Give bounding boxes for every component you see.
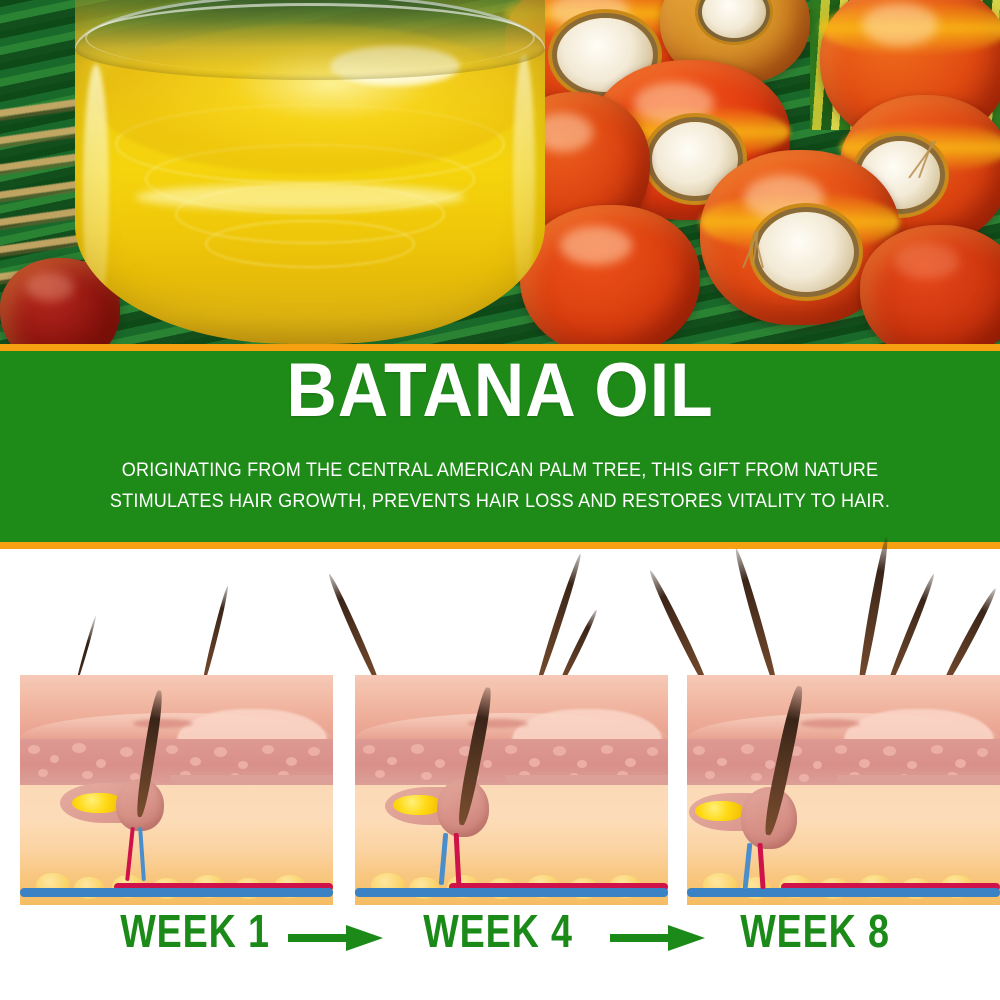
accent-stripe-bottom <box>0 542 1000 549</box>
epidermis-layer <box>20 675 333 743</box>
description-line-2: STIMULATES HAIR GROWTH, PREVENTS HAIR LO… <box>73 486 928 517</box>
product-infographic: BATANA OIL ORIGINATING FROM THE CENTRAL … <box>0 0 1000 1000</box>
diagram-week-1 <box>20 675 333 905</box>
epidermis-layer <box>355 675 668 743</box>
hero-photo <box>0 0 1000 345</box>
arrow-right-icon-2 <box>610 923 706 953</box>
skin-cross-section <box>355 675 668 905</box>
diagram-week-8 <box>687 675 1000 905</box>
product-description: ORIGINATING FROM THE CENTRAL AMERICAN PA… <box>73 455 928 517</box>
stage-label-week-8: WEEK 8 <box>733 905 897 957</box>
stage-label-week-1: WEEK 1 <box>113 905 277 957</box>
stage-labels: WEEK 1 WEEK 4 WEEK 8 <box>0 905 1000 975</box>
skin-cross-section <box>20 675 333 905</box>
arrow-right-icon-1 <box>288 923 384 953</box>
stage-label-week-4: WEEK 4 <box>416 905 580 957</box>
description-line-1: ORIGINATING FROM THE CENTRAL AMERICAN PA… <box>73 455 928 486</box>
skin-cross-section <box>687 675 1000 905</box>
diagram-week-4 <box>355 675 668 905</box>
page-title: BATANA OIL <box>40 353 960 429</box>
glass-bowl-of-oil <box>75 0 545 344</box>
epidermis-layer <box>687 675 1000 743</box>
